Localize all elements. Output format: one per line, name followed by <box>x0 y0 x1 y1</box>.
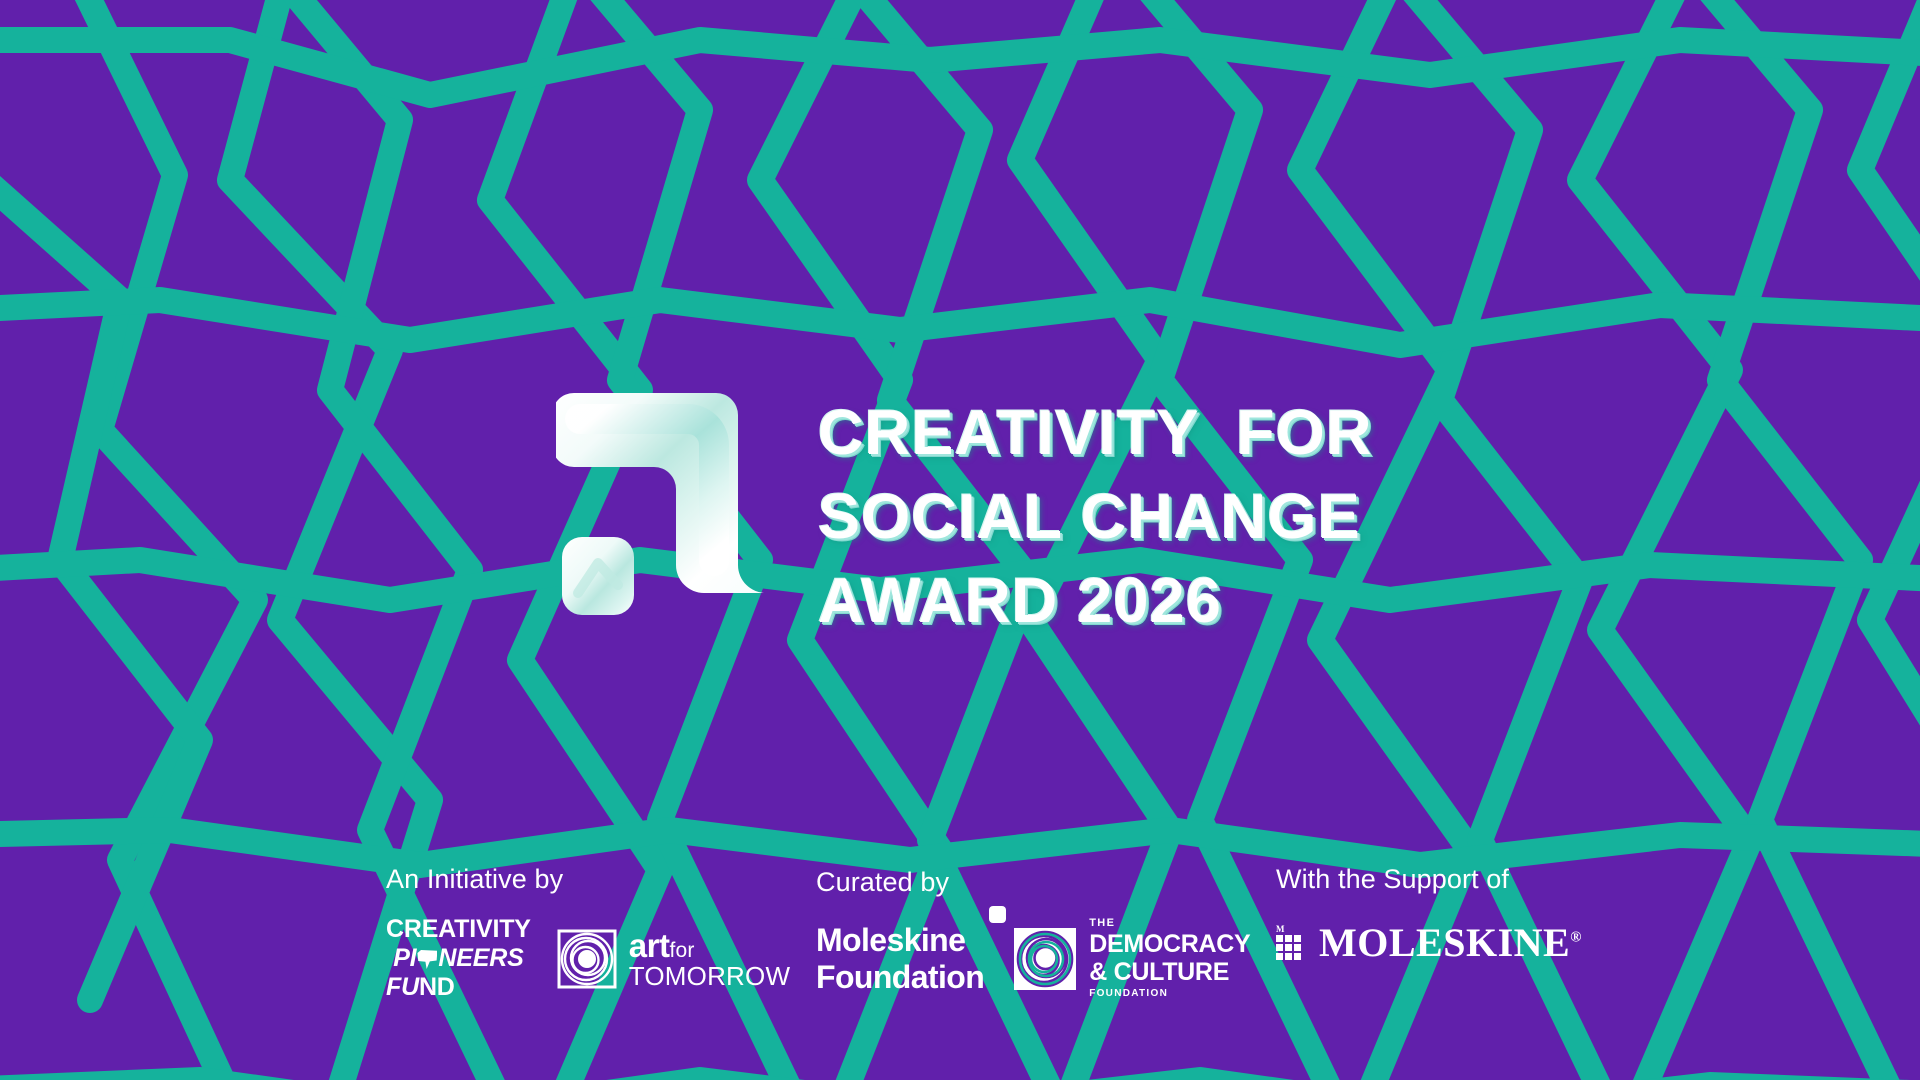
cpf-line-3-b: U <box>401 973 419 1001</box>
cpf-line-2-b: NEERS <box>438 944 523 972</box>
concentric-circles-icon <box>557 929 617 989</box>
hero-title: CREATIVITY FOR SOCIAL CHANGE AWARD 2026 <box>818 391 1373 643</box>
creativity-pioneers-fund-logo[interactable]: CREATIVITY PINEERS FUND <box>386 915 531 1002</box>
moleskine-grid-icon: M <box>1276 925 1308 961</box>
award-key-visual: CREATIVITY FOR SOCIAL CHANGE AWARD 2026 … <box>0 0 1920 1080</box>
speech-bubble-icon <box>417 950 437 969</box>
democracy-and-culture-foundation-logo[interactable]: THE DEMOCRACY & CULTURE FOUNDATION <box>1014 918 1250 999</box>
cpf-line-3-c: ND <box>419 973 455 1001</box>
credit-logos-curated: Moleskine Foundation <box>816 918 1250 999</box>
registered-trademark-icon: ® <box>1570 930 1581 946</box>
mf-line-2: Foundation <box>816 959 984 996</box>
credit-curated-by: Curated by Moleskine Foundation <box>816 866 1250 999</box>
credit-logos-support: M <box>1276 923 1581 963</box>
moleskine-logo[interactable]: M <box>1276 923 1581 963</box>
art-for-tomorrow-logo[interactable]: artfor TOMORROW <box>557 929 790 989</box>
moleskine-word: MOLESKINE <box>1319 920 1570 965</box>
dcf-footer: FOUNDATION <box>1089 989 1250 999</box>
credit-support-of: With the Support of M <box>1276 863 1581 963</box>
mf-line-1: Moleskine <box>816 922 984 959</box>
moleskine-foundation-logo[interactable]: Moleskine Foundation <box>816 922 984 996</box>
aft-word-for: for <box>669 939 694 962</box>
aft-word-art: art <box>629 927 670 964</box>
hero-lockup: CREATIVITY FOR SOCIAL CHANGE AWARD 2026 <box>556 383 1373 643</box>
creativity-pioneers-arrow-mark <box>556 385 778 623</box>
credit-logos-initiative: CREATIVITY PINEERS FUND artfor TOMORROW <box>386 915 790 1002</box>
cpf-line-1: CREATIVITY <box>386 915 531 944</box>
cpf-line-2-a: PI <box>393 944 416 972</box>
moleskine-grid-m: M <box>1276 925 1285 934</box>
moleskine-wordmark: MOLESKINE® <box>1319 923 1581 963</box>
credit-initiative-by: An Initiative by CREATIVITY PINEERS FUND… <box>386 863 790 1002</box>
title-line-2: SOCIAL CHANGE <box>818 475 1373 559</box>
credit-label-initiative: An Initiative by <box>386 863 790 895</box>
art-for-tomorrow-text: artfor TOMORROW <box>629 929 790 989</box>
cpf-line-3: FUND <box>386 973 531 1002</box>
dcf-the: THE <box>1089 918 1250 929</box>
concentric-spiral-icon <box>1014 928 1076 990</box>
aft-word-tomorrow: TOMORROW <box>629 963 790 989</box>
credit-label-curated: Curated by <box>816 866 1250 898</box>
cpf-line-3-a: F <box>386 973 401 1001</box>
credit-label-support: With the Support of <box>1276 863 1581 895</box>
title-line-1: CREATIVITY FOR <box>818 391 1373 475</box>
cpf-line-2: PINEERS <box>386 944 531 973</box>
rounded-square-icon <box>989 906 1006 923</box>
title-line-3: AWARD 2026 <box>818 559 1373 643</box>
dcf-line-2: & CULTURE <box>1089 960 1250 985</box>
aft-row-1: artfor <box>629 929 790 962</box>
dcf-line-1: DEMOCRACY <box>1089 932 1250 957</box>
dcf-text: THE DEMOCRACY & CULTURE FOUNDATION <box>1089 918 1250 999</box>
